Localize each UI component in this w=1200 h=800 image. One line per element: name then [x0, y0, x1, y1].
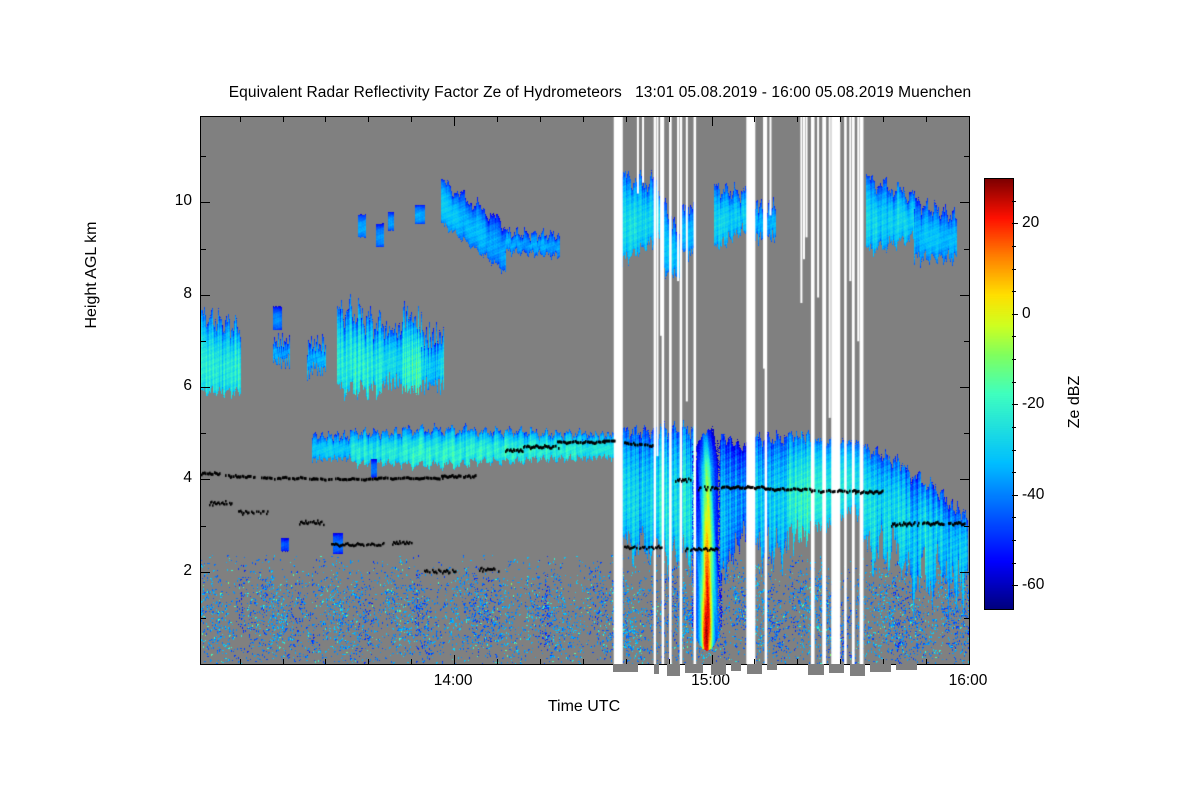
- x-axis-tick: [325, 117, 326, 122]
- colorbar-tick-label-0: 0: [1022, 305, 1031, 323]
- colorbar-minor-tick: [1012, 472, 1016, 473]
- y-axis-tick: [964, 618, 969, 619]
- x-axis-tick: [368, 659, 369, 664]
- x-axis-tick: [583, 117, 584, 122]
- x-axis-tick: [754, 659, 755, 664]
- colorbar-tick-label-20: 20: [1022, 214, 1039, 232]
- x-axis-tick: [754, 117, 755, 122]
- y-axis-tick: [964, 341, 969, 342]
- colorbar-tick-labels: 200-20-40-60: [1012, 178, 1072, 608]
- x-axis-tick: [626, 117, 627, 122]
- colorbar-minor-tick: [1012, 336, 1016, 337]
- colorbar-minor-tick: [1012, 246, 1016, 247]
- below-axis-artifact: [667, 664, 680, 676]
- y-tick-label-6: 6: [183, 377, 192, 395]
- x-axis-tick: [669, 117, 670, 122]
- x-axis-tick: [926, 659, 927, 664]
- colorbar-title: Ze dBZ: [1066, 302, 1084, 502]
- below-axis-artifact: [731, 664, 741, 671]
- y-axis-tick: [201, 526, 206, 527]
- y-axis-tick: [960, 479, 969, 480]
- colorbar-tick-mark: [1012, 223, 1018, 224]
- x-axis-tick: [454, 655, 455, 664]
- x-axis-tick: [840, 117, 841, 122]
- x-axis-tick: [368, 117, 369, 122]
- colorbar-tick-mark: [1012, 314, 1018, 315]
- x-axis-tick: [240, 117, 241, 122]
- x-axis-tick: [411, 659, 412, 664]
- x-axis-tick: [240, 659, 241, 664]
- x-axis-tick: [411, 117, 412, 122]
- y-axis-tick: [960, 572, 969, 573]
- y-axis-tick: [964, 156, 969, 157]
- below-axis-artifact: [808, 664, 823, 675]
- x-axis-tick: [797, 117, 798, 122]
- colorbar-tick-label-neg40: -40: [1022, 486, 1044, 504]
- below-axis-artifact: [870, 664, 891, 672]
- y-axis-tick: [960, 202, 969, 203]
- y-axis-tick: [201, 433, 206, 434]
- colorbar-tick-label-neg20: -20: [1022, 395, 1044, 413]
- y-axis-tick: [960, 295, 969, 296]
- y-axis-tick: [964, 433, 969, 434]
- colorbar-minor-tick: [1012, 359, 1016, 360]
- x-axis-tick: [712, 655, 713, 664]
- below-axis-artifact: [654, 664, 659, 674]
- x-axis-tick: [497, 659, 498, 664]
- y-axis-tick-labels: 246810: [140, 116, 192, 663]
- figure-title: Equivalent Radar Reflectivity Factor Ze …: [0, 84, 1200, 102]
- colorbar-tick-label-neg60: -60: [1022, 576, 1044, 594]
- y-axis-tick: [960, 387, 969, 388]
- x-axis-tick: [583, 659, 584, 664]
- x-axis-tick: [840, 659, 841, 664]
- colorbar-minor-tick: [1012, 540, 1016, 541]
- radar-reflectivity-figure: Equivalent Radar Reflectivity Factor Ze …: [0, 0, 1200, 800]
- colorbar-minor-tick: [1012, 450, 1016, 451]
- x-axis-tick: [712, 117, 713, 126]
- below-axis-artifact: [711, 664, 726, 675]
- x-axis-tick: [283, 659, 284, 664]
- x-tick-label-16-00: 16:00: [949, 672, 988, 690]
- below-axis-artifact: [767, 664, 777, 670]
- x-tick-label-14-00: 14:00: [434, 672, 473, 690]
- y-tick-label-4: 4: [183, 469, 192, 487]
- y-axis-tick: [201, 341, 206, 342]
- x-axis-tick: [540, 117, 541, 122]
- colorbar-minor-tick: [1012, 382, 1016, 383]
- y-axis-tick: [964, 249, 969, 250]
- x-axis-tick: [926, 117, 927, 122]
- x-axis-tick: [883, 117, 884, 122]
- below-axis-artifact: [747, 664, 762, 674]
- colorbar-tick-mark: [1012, 495, 1018, 496]
- colorbar-gradient: [985, 179, 1013, 609]
- y-axis-tick: [201, 295, 210, 296]
- y-axis-tick: [201, 202, 210, 203]
- colorbar-minor-tick: [1012, 269, 1016, 270]
- y-tick-label-2: 2: [183, 562, 192, 580]
- below-axis-artifact: [685, 664, 703, 673]
- colorbar: [984, 178, 1014, 610]
- y-axis-tick: [964, 526, 969, 527]
- colorbar-minor-tick: [1012, 517, 1016, 518]
- below-axis-artifact: [896, 664, 917, 670]
- x-axis-tick: [454, 117, 455, 126]
- y-axis-tick: [201, 618, 206, 619]
- below-axis-artifact: [829, 664, 844, 673]
- y-axis-title: Height AGL km: [83, 125, 101, 425]
- colorbar-minor-tick: [1012, 563, 1016, 564]
- x-axis-title: Time UTC: [200, 698, 968, 716]
- x-axis-tick: [283, 117, 284, 122]
- colorbar-minor-tick: [1012, 201, 1016, 202]
- x-axis-tick: [325, 659, 326, 664]
- y-tick-label-10: 10: [175, 192, 192, 210]
- x-axis-tick: [540, 659, 541, 664]
- colorbar-tick-mark: [1012, 404, 1018, 405]
- x-axis-tick: [797, 659, 798, 664]
- x-axis-tick: [497, 117, 498, 122]
- y-axis-tick: [201, 479, 210, 480]
- plot-area[interactable]: [200, 116, 970, 665]
- colorbar-tick-mark: [1012, 585, 1018, 586]
- y-axis-tick: [201, 387, 210, 388]
- y-tick-label-8: 8: [183, 285, 192, 303]
- below-axis-artifact: [850, 664, 865, 676]
- reflectivity-heatmap-canvas[interactable]: [201, 117, 969, 664]
- colorbar-minor-tick: [1012, 291, 1016, 292]
- y-axis-tick: [201, 249, 206, 250]
- y-axis-tick: [201, 156, 206, 157]
- x-axis-tick: [626, 659, 627, 664]
- x-axis-tick: [883, 659, 884, 664]
- x-axis-tick: [669, 659, 670, 664]
- colorbar-minor-tick: [1012, 427, 1016, 428]
- below-axis-artifact: [613, 664, 639, 672]
- y-axis-tick: [201, 572, 210, 573]
